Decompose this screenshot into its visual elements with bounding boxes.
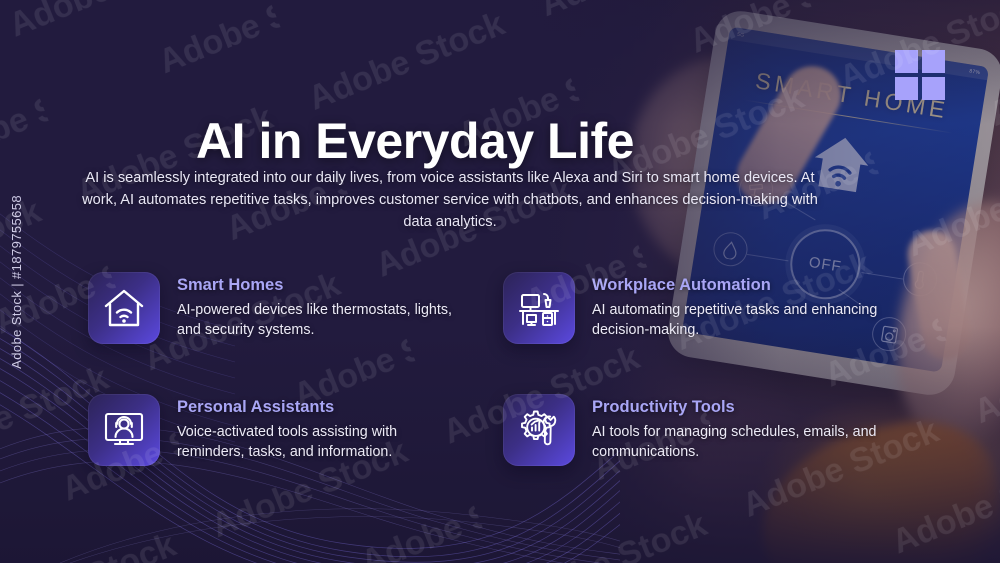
feature-card-text: Workplace Automation AI automating repet… [592, 272, 882, 340]
workplace-desk-icon [503, 272, 575, 344]
feature-card-text: Productivity Tools AI tools for managing… [592, 394, 882, 462]
page-title: AI in Everyday Life [0, 112, 830, 170]
feature-description: AI tools for managing schedules, emails,… [592, 422, 882, 462]
smart-home-icon [88, 272, 160, 344]
feature-description: AI automating repetitive tasks and enhan… [592, 300, 882, 340]
feature-card-workplace-automation[interactable]: Workplace Automation AI automating repet… [503, 272, 918, 394]
feature-card-grid: Smart Homes AI-powered devices like ther… [88, 272, 918, 516]
feature-card-text: Smart Homes AI-powered devices like ther… [177, 272, 467, 340]
productivity-gear-wrench-icon [503, 394, 575, 466]
feature-card-personal-assistants[interactable]: Personal Assistants Voice-activated tool… [88, 394, 503, 516]
feature-card-productivity-tools[interactable]: Productivity Tools AI tools for managing… [503, 394, 918, 516]
feature-card-smart-homes[interactable]: Smart Homes AI-powered devices like ther… [88, 272, 503, 394]
feature-card-text: Personal Assistants Voice-activated tool… [177, 394, 467, 462]
poster-canvas: 5G 87% SMART HOME OFF [0, 0, 1000, 563]
feature-title: Smart Homes [177, 276, 467, 295]
page-subtitle: AI is seamlessly integrated into our dai… [70, 167, 830, 233]
feature-description: Voice-activated tools assisting with rem… [177, 422, 467, 462]
personal-assistant-icon [88, 394, 160, 466]
feature-title: Personal Assistants [177, 398, 467, 417]
feature-title: Workplace Automation [592, 276, 882, 295]
feature-description: AI-powered devices like thermostats, lig… [177, 300, 467, 340]
poster-content: AI in Everyday Life AI is seamlessly int… [0, 0, 1000, 563]
feature-title: Productivity Tools [592, 398, 882, 417]
